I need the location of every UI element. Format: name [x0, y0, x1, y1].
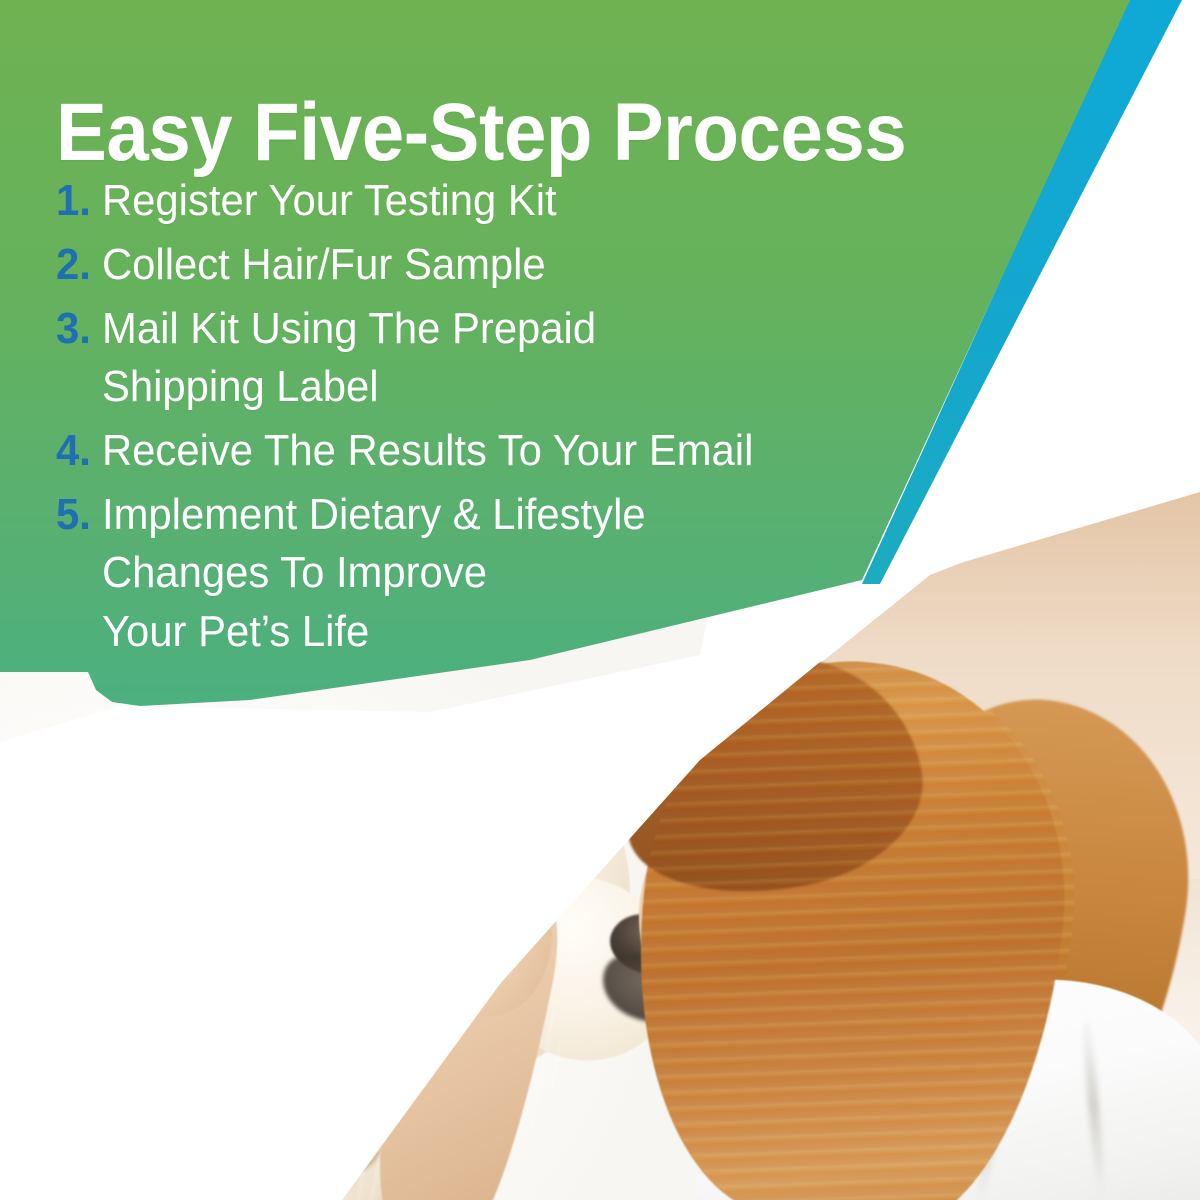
step-label: Mail Kit Using The Prepaid Shipping Labe… — [102, 300, 989, 416]
step-label: Register Your Testing Kit — [102, 172, 989, 230]
poster-canvas: Easy Five-Step Process 1. Register Your … — [0, 0, 1200, 1200]
list-item: 5. Implement Dietary & Lifestyle Changes… — [56, 486, 1036, 660]
steps-list: 1. Register Your Testing Kit 2. Collect … — [56, 172, 1036, 667]
step-number: 4. — [56, 422, 100, 480]
step-label: Receive The Results To Your Email — [102, 422, 989, 480]
page-title: Easy Five-Step Process — [56, 91, 986, 175]
list-item: 1. Register Your Testing Kit — [56, 172, 1036, 230]
step-number: 1. — [56, 172, 100, 230]
list-item: 3. Mail Kit Using The Prepaid Shipping L… — [56, 300, 1036, 416]
step-label: Collect Hair/Fur Sample — [102, 236, 989, 294]
step-number: 5. — [56, 486, 100, 544]
list-item: 2. Collect Hair/Fur Sample — [56, 236, 1036, 294]
step-number: 3. — [56, 300, 100, 358]
step-number: 2. — [56, 236, 100, 294]
step-label: Implement Dietary & Lifestyle Changes To… — [102, 486, 989, 660]
list-item: 4. Receive The Results To Your Email — [56, 422, 1036, 480]
